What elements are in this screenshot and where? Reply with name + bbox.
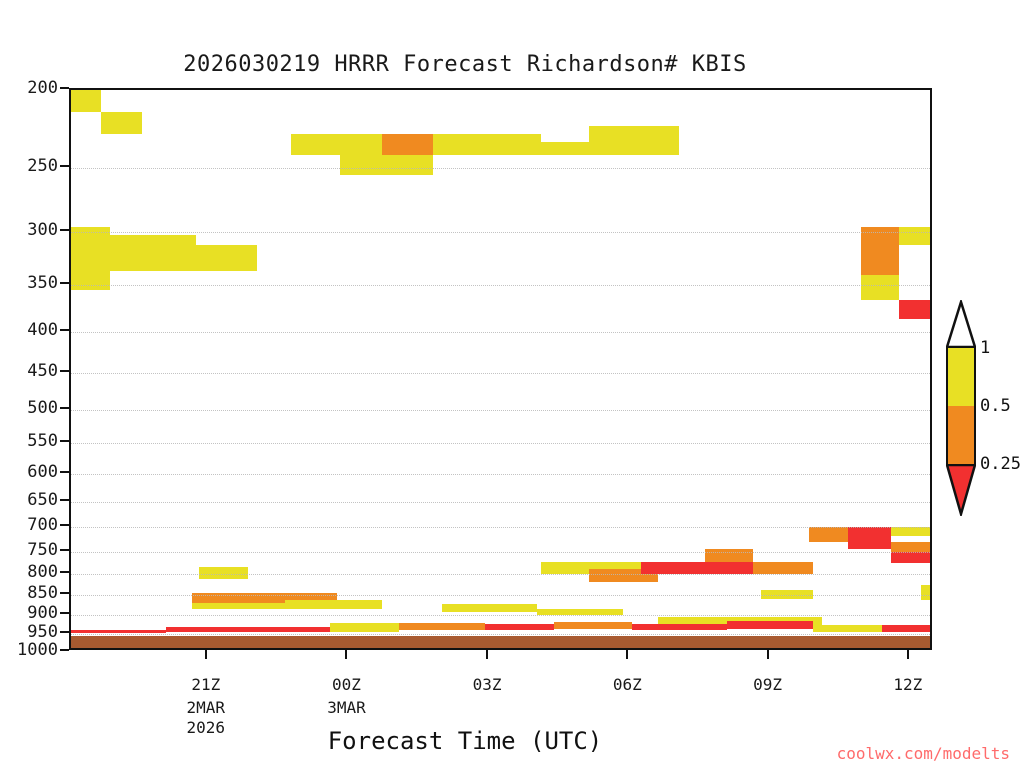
watermark: coolwx.com/modelts	[837, 744, 1010, 763]
colorbar-arrow-up-icon	[946, 300, 976, 348]
heatmap-cell	[861, 275, 900, 300]
heatmap-cell	[291, 134, 340, 155]
y-axis-tick-label: 650	[0, 490, 58, 510]
y-axis-tick-mark	[60, 329, 69, 331]
y-axis-tick-mark	[60, 471, 69, 473]
heatmap-cell	[71, 227, 110, 290]
y-axis-tick-mark	[60, 165, 69, 167]
gridline	[71, 410, 930, 412]
y-axis-tick-mark	[60, 87, 69, 89]
gridline	[71, 527, 930, 529]
y-axis-tick-label: 500	[0, 398, 58, 418]
x-axis-tick-label: 09Z	[753, 675, 782, 694]
heatmap-cell	[861, 227, 900, 275]
gridline	[71, 373, 930, 375]
gridline	[71, 615, 930, 617]
y-axis-tick-mark	[60, 649, 69, 651]
y-axis-tick-label: 250	[0, 156, 58, 176]
heatmap-cell	[921, 585, 932, 600]
heatmap-cell	[930, 563, 932, 574]
y-axis-tick-label: 700	[0, 515, 58, 535]
gridline	[71, 232, 930, 234]
heatmap-cell	[485, 624, 554, 631]
heatmap-cell	[399, 623, 485, 630]
heatmap-cell	[196, 245, 256, 271]
y-axis-tick-mark	[60, 440, 69, 442]
y-axis-tick-label: 750	[0, 540, 58, 560]
chart-title: 2026030219 HRRR Forecast Richardson# KBI…	[0, 52, 930, 77]
x-axis-tick-mark	[767, 650, 769, 659]
y-axis-tick-label: 400	[0, 320, 58, 340]
gridline	[71, 168, 930, 170]
colorbar-segment	[946, 406, 976, 464]
heatmap-cell	[285, 600, 337, 609]
heatmap-cell	[71, 90, 101, 112]
x-axis-tick-label: 00Z	[332, 675, 361, 694]
heatmap-cell	[589, 126, 680, 155]
heatmap-cell	[541, 142, 588, 155]
heatmap-cell	[71, 630, 166, 634]
y-axis-tick-label: 900	[0, 603, 58, 623]
gridline	[71, 502, 930, 504]
heatmap-cell	[848, 527, 891, 549]
colorbar-segment	[946, 348, 976, 406]
chart-root: 2026030219 HRRR Forecast Richardson# KBI…	[0, 0, 1024, 768]
y-axis-tick-mark	[60, 407, 69, 409]
colorbar-arrow-down-icon	[946, 464, 976, 516]
terrain-band	[71, 636, 930, 650]
x-axis-tick-label: 06Z	[613, 675, 642, 694]
x-axis-title: Forecast Time (UTC)	[0, 727, 930, 755]
y-axis-tick-mark	[60, 524, 69, 526]
x-axis-tick-mark	[907, 650, 909, 659]
x-axis-tick-label: 12Z	[893, 675, 922, 694]
y-axis-tick-mark	[60, 370, 69, 372]
y-axis-tick-mark	[60, 612, 69, 614]
gridline	[71, 474, 930, 476]
colorbar: 10.50.25	[946, 300, 976, 516]
heatmap-cell	[192, 603, 285, 610]
y-axis-tick-label: 850	[0, 583, 58, 603]
heatmap-cells	[71, 90, 930, 648]
colorbar-arrow-down	[946, 464, 976, 516]
gridline	[71, 285, 930, 287]
colorbar-arrow-up	[946, 300, 976, 348]
y-axis-tick-label: 300	[0, 220, 58, 240]
heatmap-cell	[110, 235, 196, 271]
heatmap-cell	[433, 134, 541, 155]
x-axis-date-label: 3MAR	[327, 698, 366, 718]
y-axis-tick-mark	[60, 229, 69, 231]
heatmap-cell	[382, 134, 434, 155]
heatmap-cell	[442, 604, 537, 612]
y-axis-tick-label: 800	[0, 562, 58, 582]
x-axis-date-line: 3MAR	[327, 698, 366, 718]
heatmap-cell	[899, 300, 932, 319]
heatmap-cell	[891, 552, 930, 563]
colorbar-tick-label: 1	[980, 338, 990, 358]
gridline	[71, 595, 930, 597]
heatmap-cell	[813, 625, 882, 632]
heatmap-cell	[727, 621, 813, 629]
colorbar-tick-label: 0.5	[980, 396, 1011, 416]
heatmap-cell	[753, 562, 813, 574]
colorbar-tick-label: 0.25	[980, 454, 1021, 474]
heatmap-cell	[632, 624, 727, 631]
heatmap-cell	[166, 627, 330, 633]
gridline	[71, 574, 930, 576]
x-axis-tick-mark	[486, 650, 488, 659]
heatmap-cell	[554, 622, 632, 628]
gridline	[71, 552, 930, 554]
x-axis-date-line: 2MAR	[187, 698, 226, 718]
y-axis-tick-mark	[60, 499, 69, 501]
y-axis-tick-mark	[60, 571, 69, 573]
x-axis-tick-label: 21Z	[191, 675, 220, 694]
heatmap-cell	[337, 600, 382, 609]
gridline	[71, 332, 930, 334]
heatmap-cell	[330, 623, 399, 632]
y-axis-tick-label: 350	[0, 273, 58, 293]
heatmap-cell	[882, 625, 932, 632]
heatmap-cell	[899, 227, 932, 245]
y-axis-tick-label: 200	[0, 78, 58, 98]
gridline	[71, 443, 930, 445]
x-axis-tick-mark	[345, 650, 347, 659]
y-axis-tick-mark	[60, 282, 69, 284]
y-axis-tick-mark	[60, 631, 69, 633]
heatmap-cell	[641, 562, 706, 574]
x-axis-tick-mark	[205, 650, 207, 659]
heatmap-cell	[101, 112, 142, 134]
y-axis-tick-mark	[60, 592, 69, 594]
y-axis-tick-mark	[60, 549, 69, 551]
y-axis-tick-label: 600	[0, 462, 58, 482]
x-axis-tick-mark	[626, 650, 628, 659]
y-axis-tick-label: 1000	[0, 640, 58, 660]
y-axis-tick-label: 450	[0, 361, 58, 381]
y-axis-tick-label: 550	[0, 431, 58, 451]
plot-area	[69, 88, 932, 650]
x-axis-tick-label: 03Z	[473, 675, 502, 694]
